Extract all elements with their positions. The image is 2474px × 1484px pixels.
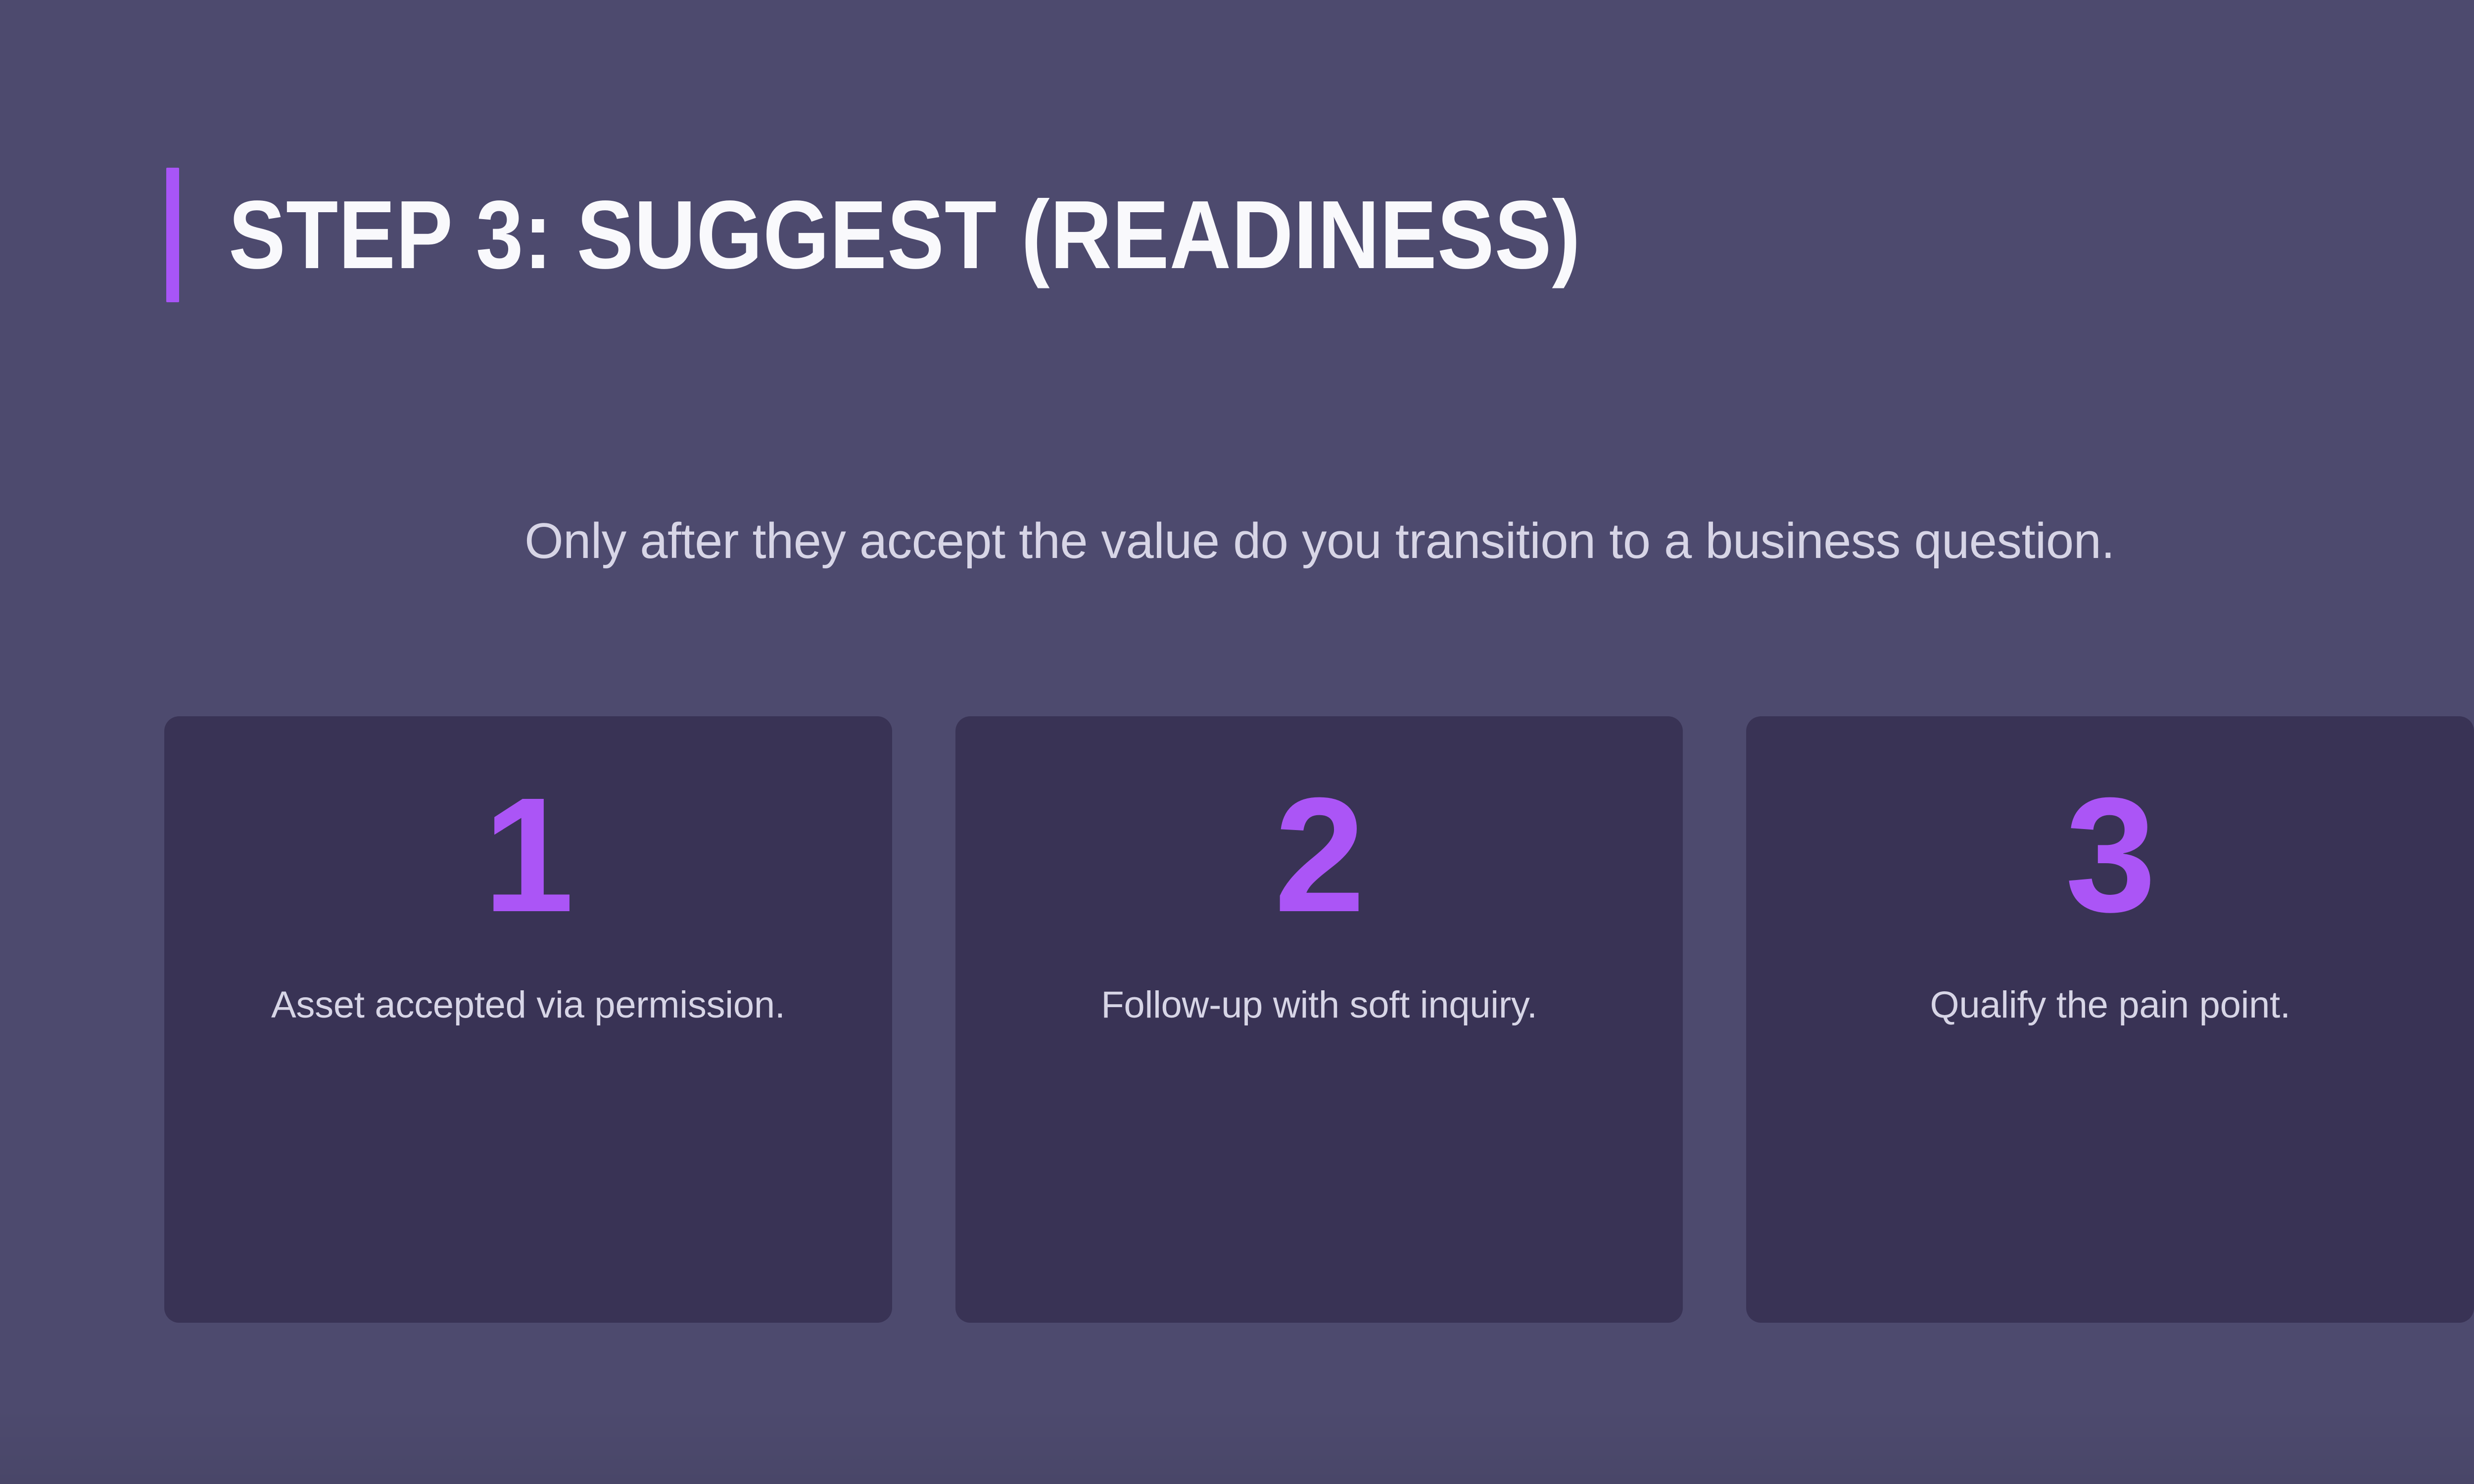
- step-card-3: 3 Qualify the pain point.: [1746, 716, 2474, 1323]
- bottom-edge-shading: [0, 1405, 2474, 1484]
- step-card-1: 1 Asset accepted via permission.: [164, 716, 892, 1323]
- step-card-text: Follow-up with soft inquiry.: [1101, 977, 1537, 1033]
- slide-title-row: STEP 3: SUGGEST (READINESS): [166, 122, 1765, 349]
- step-card-number: 3: [2065, 772, 2155, 938]
- step-card-number: 1: [483, 772, 573, 938]
- step-card-list: 1 Asset accepted via permission. 2 Follo…: [164, 716, 2474, 1323]
- page-title: STEP 3: SUGGEST (READINESS): [229, 186, 1581, 283]
- step-card-text: Asset accepted via permission.: [271, 977, 785, 1033]
- slide-subtitle: Only after they accept the value do you …: [0, 510, 2474, 572]
- step-card-2: 2 Follow-up with soft inquiry.: [955, 716, 1683, 1323]
- presentation-slide: STEP 3: SUGGEST (READINESS) Only after t…: [0, 0, 2474, 1484]
- step-card-text: Qualify the pain point.: [1930, 977, 2290, 1033]
- title-accent-bar: [166, 168, 179, 302]
- step-card-number: 2: [1274, 772, 1364, 938]
